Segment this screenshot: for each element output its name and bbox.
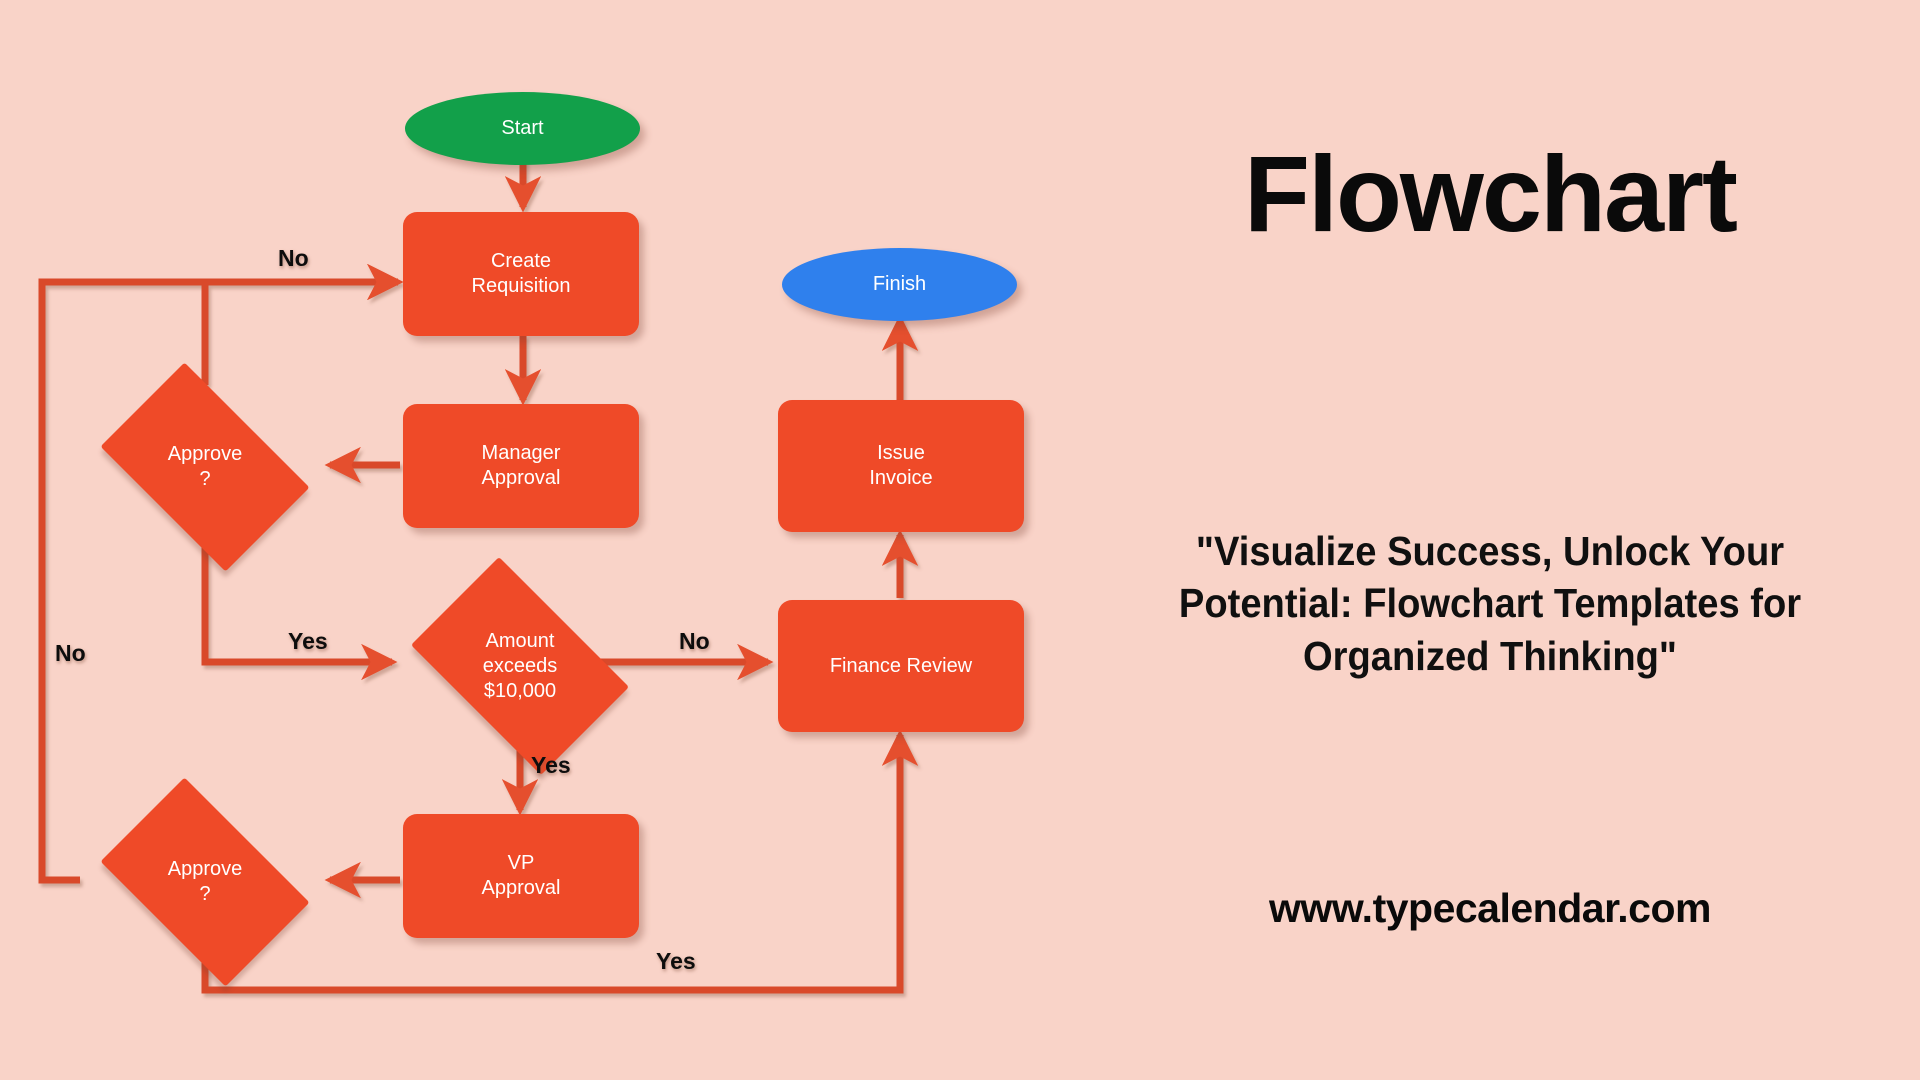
node-approve-decision-2-label: Approve ? bbox=[168, 857, 243, 907]
flowchart-area: Start Create Requisition Manager Approva… bbox=[0, 0, 1060, 1080]
node-issue-invoice-label: Issue Invoice bbox=[869, 441, 932, 491]
node-vp-approval[interactable]: VP Approval bbox=[403, 814, 639, 938]
tagline-text: "Visualize Success, Unlock Your Potentia… bbox=[1109, 525, 1872, 682]
edge-label-yes-bottom: Yes bbox=[656, 948, 696, 975]
node-manager-approval[interactable]: Manager Approval bbox=[403, 404, 639, 528]
node-issue-invoice[interactable]: Issue Invoice bbox=[778, 400, 1024, 532]
edge-label-yes-amount: Yes bbox=[288, 628, 328, 655]
node-start[interactable]: Start bbox=[405, 92, 640, 165]
node-approve-decision-1-label: Approve ? bbox=[168, 442, 243, 492]
node-finish[interactable]: Finish bbox=[782, 248, 1017, 321]
node-finish-label: Finish bbox=[873, 272, 926, 297]
node-finance-review-label: Finance Review bbox=[830, 654, 972, 679]
node-finance-review[interactable]: Finance Review bbox=[778, 600, 1024, 732]
poster-canvas: Start Create Requisition Manager Approva… bbox=[0, 0, 1920, 1080]
node-create-requisition[interactable]: Create Requisition bbox=[403, 212, 639, 336]
text-panel: Flowchart "Visualize Success, Unlock You… bbox=[1060, 0, 1920, 1080]
node-vp-approval-label: VP Approval bbox=[482, 851, 561, 901]
page-title: Flowchart bbox=[1060, 140, 1920, 248]
node-amount-exceeds-label: Amount exceeds $10,000 bbox=[483, 629, 558, 704]
node-amount-exceeds-decision[interactable]: Amount exceeds $10,000 bbox=[390, 578, 650, 754]
node-approve-decision-2[interactable]: Approve ? bbox=[80, 798, 330, 966]
node-create-requisition-label: Create Requisition bbox=[472, 249, 571, 299]
edge-label-no-top: No bbox=[278, 245, 309, 272]
node-approve-decision-1[interactable]: Approve ? bbox=[80, 383, 330, 551]
node-start-label: Start bbox=[501, 116, 543, 141]
website-url: www.typecalendar.com bbox=[1060, 885, 1920, 932]
edge-label-yes-vp: Yes bbox=[531, 752, 571, 779]
edge-label-no-finance: No bbox=[679, 628, 710, 655]
edge-label-no-left: No bbox=[55, 640, 86, 667]
node-manager-approval-label: Manager Approval bbox=[482, 441, 561, 491]
